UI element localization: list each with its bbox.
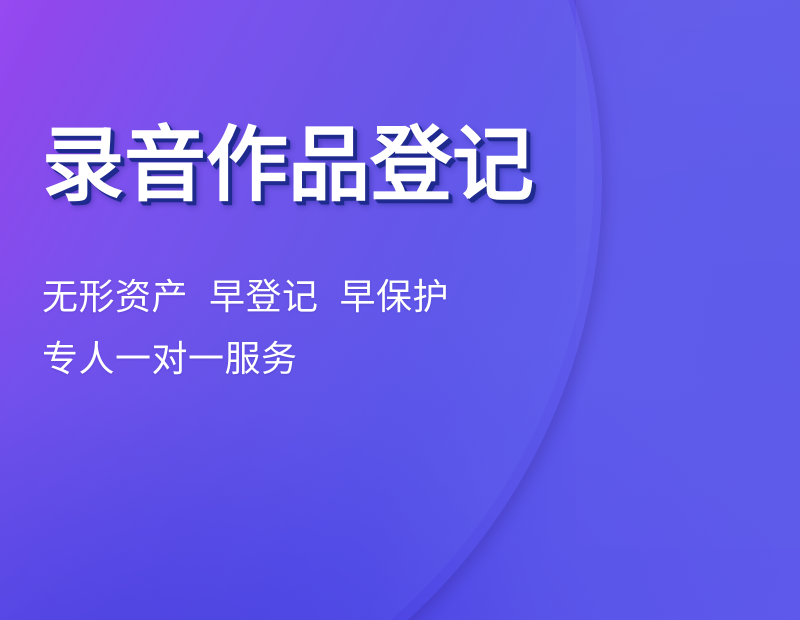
banner-content: 录音作品登记 无形资产 早登记 早保护 专人一对一服务 xyxy=(42,118,534,390)
promo-banner: 录音作品登记 无形资产 早登记 早保护 专人一对一服务 xyxy=(0,0,800,620)
banner-subtitle-line-2: 专人一对一服务 xyxy=(42,328,534,390)
banner-subtitle-group: 无形资产 早登记 早保护 专人一对一服务 xyxy=(42,266,534,390)
decorative-right-panel xyxy=(576,0,800,620)
banner-headline: 录音作品登记 xyxy=(42,118,534,214)
banner-subtitle-line-1: 无形资产 早登记 早保护 xyxy=(42,266,534,328)
